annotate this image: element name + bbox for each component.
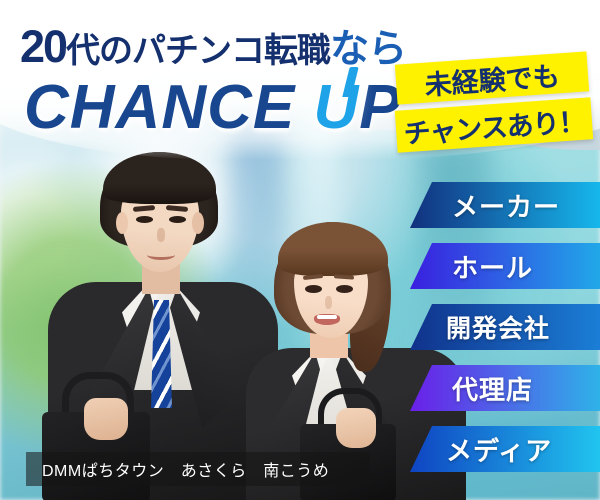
category-button-maker[interactable]: メーカー [410,182,600,228]
businessman-ear-right [192,212,204,234]
businessman-ear-left [116,212,128,234]
businesswoman-hand [336,408,376,448]
businessman-mouth [147,250,175,260]
brand-logo: CHANCE UP [24,72,402,143]
category-button-hall[interactable]: ホール [410,243,600,289]
logo-up-group: UP [313,72,401,143]
businesswoman-nose [325,296,332,309]
businessman-nose [157,228,165,242]
badge-line-2: チャンスあり！ [395,97,593,153]
businessman-eye-right [169,216,186,223]
category-label-hall: ホール [452,248,533,285]
businessman-eye-left [136,216,153,223]
category-button-developer[interactable]: 開発会社 [410,304,600,350]
businessman-hand [84,398,128,440]
credit-text: DMMぱちタウン あさくら 南こうめ [42,457,329,481]
badge-line-2-text: チャンスあり！ [402,99,585,151]
category-label-developer: 開発会社 [446,309,550,345]
page-title: 20代のパチンコ転職なら [20,18,406,74]
businesswoman-eye-left [305,285,322,293]
category-button-agency[interactable]: 代理店 [410,365,600,411]
headline-body: 代のパチンコ転職 [66,32,330,70]
credit-band: DMMぱちタウン あさくら 南こうめ [26,452,370,486]
logo-chance-text: CHANCE [24,73,295,142]
badge-line-1-text: 未経験でも [423,54,560,102]
headline-number: 20 [20,21,66,72]
advertisement-banner: 20代のパチンコ転職なら CHANCE UP 未経験でも チャンスあり！ メーカ… [0,0,600,500]
status-badge: 未経験でも チャンスあり！ [396,56,592,154]
category-label-media: メディア [446,431,552,468]
logo-u-letter: U [313,73,359,142]
category-label-maker: メーカー [452,187,560,224]
category-label-agency: 代理店 [452,370,533,407]
category-button-media[interactable]: メディア [410,426,600,472]
businesswoman-eye-right [336,285,353,293]
businesswoman-teeth [317,315,337,319]
badge-line-1: 未経験でも [395,51,589,104]
